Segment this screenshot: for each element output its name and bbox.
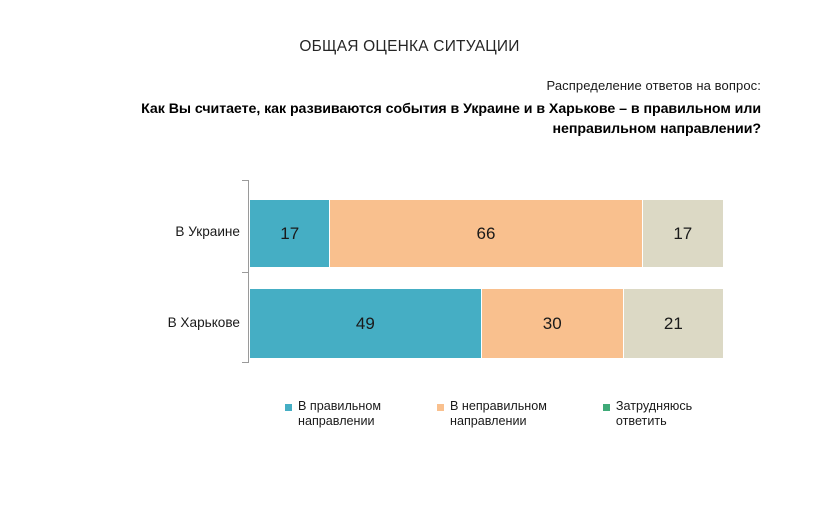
legend-label: В неправильном направлении: [450, 399, 547, 429]
chart-legend: В правильном направленииВ неправильном н…: [285, 399, 692, 429]
slide-canvas: ОБЩАЯ ОЦЕНКА СИТУАЦИИ Распределение отве…: [0, 0, 819, 510]
bar-value-label: 30: [543, 314, 562, 334]
bar-segment-kharkiv-0: 49: [250, 289, 482, 358]
bar-segment-ukraine-2: 17: [643, 200, 723, 267]
bar-value-label: 66: [477, 224, 496, 244]
category-label-kharkiv: В Харькове: [40, 315, 240, 330]
bar-row-kharkiv: 493021: [250, 289, 723, 358]
bar-value-label: 17: [673, 224, 692, 244]
category-label-ukraine: В Украине: [40, 224, 240, 239]
legend-swatch-icon: [285, 404, 292, 411]
legend-item-2[interactable]: Затрудняюсь ответить: [603, 399, 692, 429]
bar-value-label: 17: [280, 224, 299, 244]
bar-segment-kharkiv-1: 30: [482, 289, 624, 358]
legend-label: Затрудняюсь ответить: [616, 399, 692, 429]
axis-tick-top: [242, 180, 248, 181]
bar-value-label: 21: [664, 314, 683, 334]
bar-segment-kharkiv-2: 21: [624, 289, 723, 358]
legend-item-1[interactable]: В неправильном направлении: [437, 399, 547, 429]
legend-swatch-icon: [603, 404, 610, 411]
legend-item-0[interactable]: В правильном направлении: [285, 399, 381, 429]
legend-label: В правильном направлении: [298, 399, 381, 429]
bar-row-ukraine: 176617: [250, 200, 723, 267]
bar-segment-ukraine-1: 66: [330, 200, 642, 267]
axis-tick-bottom: [242, 362, 248, 363]
chart-plot-area: В Украине В Харькове 176617 493021: [0, 0, 819, 510]
legend-swatch-icon: [437, 404, 444, 411]
bar-value-label: 49: [356, 314, 375, 334]
axis-tick-middle: [242, 272, 248, 273]
bar-segment-ukraine-0: 17: [250, 200, 330, 267]
